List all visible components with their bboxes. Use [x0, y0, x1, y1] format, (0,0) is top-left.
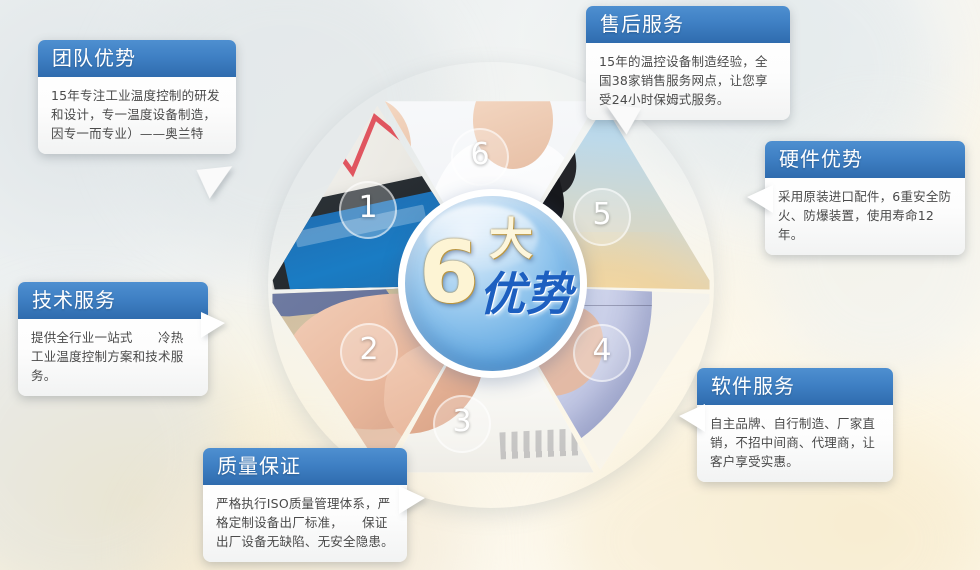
callout-body-software: 自主品牌、自行制造、厂家直销，不招中间商、代理商，让客户享受实惠。	[697, 405, 893, 482]
callout-title-hardware: 硬件优势	[765, 141, 965, 178]
callout-after-sales[interactable]: 售后服务 15年的温控设备制造经验，全国38家销售服务网点，让您享受24小时保姆…	[586, 6, 790, 120]
callout-hardware-advantage[interactable]: 硬件优势 采用原装进口配件，6重安全防火、防爆装置，使用寿命12年。	[765, 141, 965, 255]
callout-tail-software	[679, 404, 705, 432]
center-hub-disc: 6 大 优势	[405, 196, 580, 371]
callout-title-team: 团队优势	[38, 40, 236, 77]
callout-title-quality: 质量保证	[203, 448, 407, 485]
center-hub[interactable]: 6 大 优势	[398, 189, 587, 378]
callout-team-advantage[interactable]: 团队优势 15年专注工业温度控制的研发和设计，专一温度设备制造，因专一而专业）—…	[38, 40, 236, 154]
segment-badge-4[interactable]: 4	[573, 324, 631, 382]
callout-body-hardware: 采用原装进口配件，6重安全防火、防爆装置，使用寿命12年。	[765, 178, 965, 255]
callout-software-service[interactable]: 软件服务 自主品牌、自行制造、厂家直销，不招中间商、代理商，让客户享受实惠。	[697, 368, 893, 482]
hub-number: 6	[419, 230, 479, 316]
segment-badge-2[interactable]: 2	[340, 323, 398, 381]
callout-quality-assurance[interactable]: 质量保证 严格执行ISO质量管理体系，严格定制设备出厂标准， 保证出厂设备无缺陷…	[203, 448, 407, 562]
callout-body-quality: 严格执行ISO质量管理体系，严格定制设备出厂标准， 保证出厂设备无缺陷、无安全隐…	[203, 485, 407, 562]
hub-text-group: 6 大 优势	[405, 196, 580, 371]
callout-tail-hardware	[747, 185, 773, 213]
hub-unit: 大	[489, 218, 533, 262]
hub-word: 优势	[479, 270, 573, 318]
callout-tail-technical	[201, 312, 225, 338]
callout-title-after-sales: 售后服务	[586, 6, 790, 43]
callout-tail-team	[197, 166, 236, 200]
callout-title-technical: 技术服务	[18, 282, 208, 319]
segment-badge-5[interactable]: 5	[573, 188, 631, 246]
callout-title-software: 软件服务	[697, 368, 893, 405]
callout-tail-after-sales	[603, 104, 642, 136]
callout-body-technical: 提供全行业一站式 冷热工业温度控制方案和技术服务。	[18, 319, 208, 396]
segment-badge-1[interactable]: 1	[339, 181, 397, 239]
callout-tail-quality	[399, 486, 425, 514]
callout-technical-service[interactable]: 技术服务 提供全行业一站式 冷热工业温度控制方案和技术服务。	[18, 282, 208, 396]
segment-badge-3[interactable]: 3	[433, 395, 491, 453]
callout-body-team: 15年专注工业温度控制的研发和设计，专一温度设备制造，因专一而专业）——奥兰特	[38, 77, 236, 154]
infographic-canvas: 1 2 3 4 5 6 6 大 优势 团队优势 15年专注工业温度控制的研发和设…	[0, 0, 980, 570]
segment-badge-6[interactable]: 6	[451, 128, 509, 186]
